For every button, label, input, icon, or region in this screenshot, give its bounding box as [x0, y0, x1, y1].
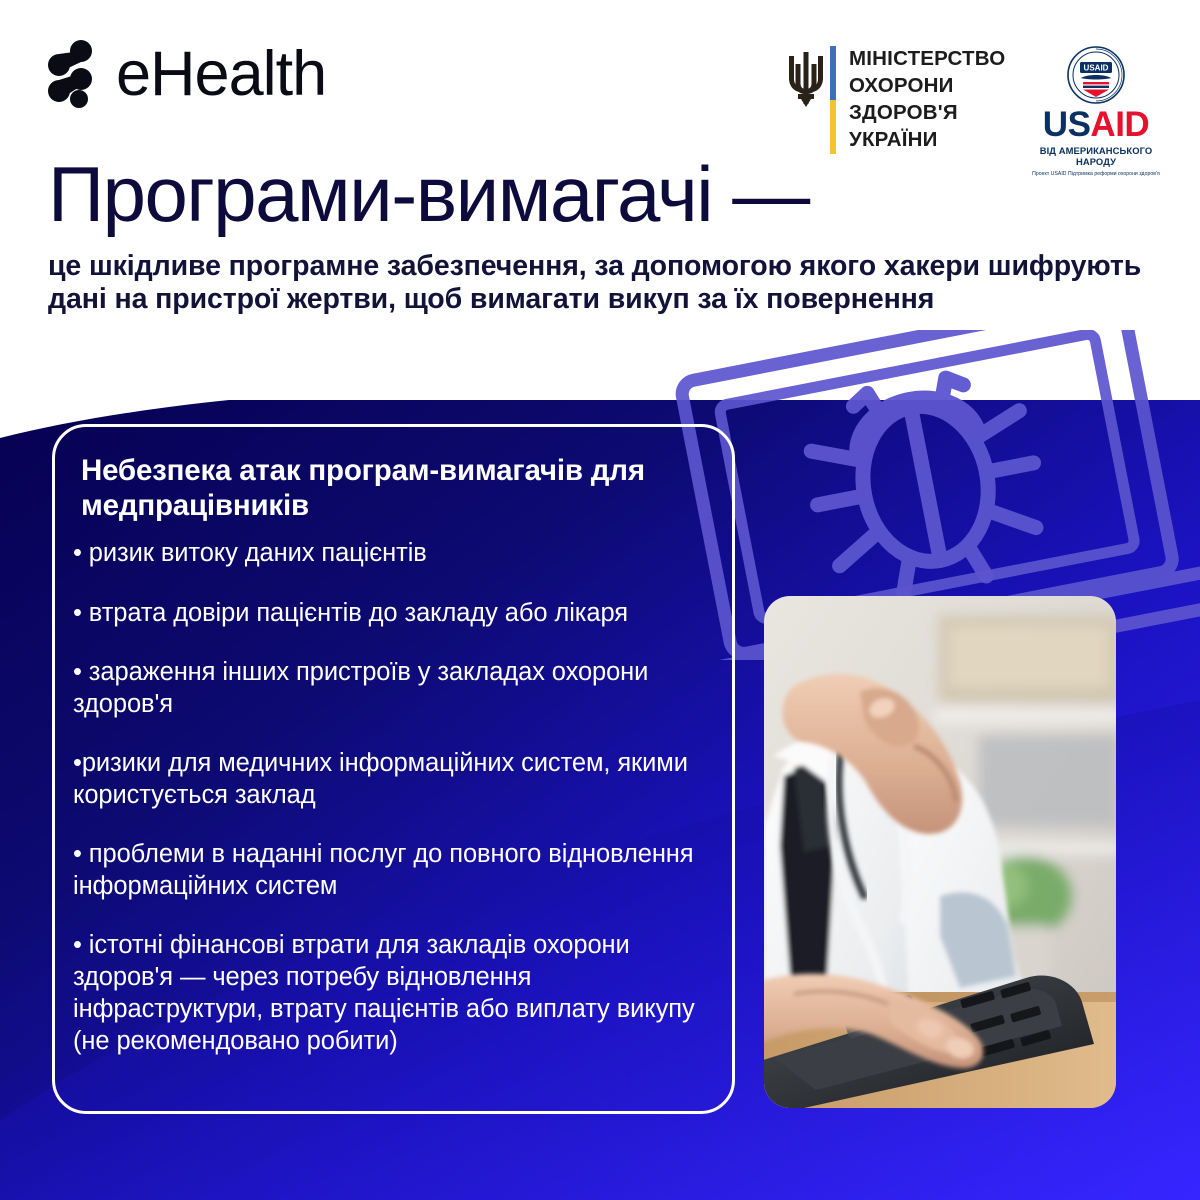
- list-item: • втрата довіри пацієнтів до закладу або…: [73, 597, 718, 629]
- svg-text:USAID: USAID: [1084, 64, 1109, 73]
- poster-root: eHealth МІНІСТЕРСТВ: [0, 0, 1200, 1200]
- usaid-seal-icon: USAID: [1067, 46, 1125, 104]
- list-item: • зараження інших пристроїв у закладах о…: [73, 656, 718, 720]
- ministry-line-2: ОХОРОНИ: [849, 73, 1005, 98]
- ministry-of-health-logo: МІНІСТЕРСТВО ОХОРОНИ ЗДОРОВ'Я УКРАЇНИ: [786, 46, 1005, 154]
- ministry-line-3: ЗДОРОВ'Я: [849, 100, 1005, 125]
- ministry-line-4: УКРАЇНИ: [849, 127, 1005, 152]
- usaid-logo: USAID USAID ВІД АМЕРИКАНСЬКОГО НАРОДУ Пр…: [1021, 46, 1171, 177]
- ministry-line-1: МІНІСТЕРСТВО: [849, 46, 1005, 71]
- usaid-word-us: US: [1043, 105, 1091, 144]
- ukraine-trident-icon: [786, 52, 826, 107]
- list-item: • проблеми в наданні послуг до повного в…: [73, 838, 718, 902]
- usaid-wordmark: USAID: [1021, 107, 1171, 142]
- ehealth-molecule-icon: [46, 40, 94, 108]
- info-card: Небезпека атак програм-вимагачів для мед…: [52, 424, 735, 1114]
- ehealth-logo: eHealth: [46, 40, 326, 108]
- ehealth-wordmark: eHealth: [116, 43, 326, 106]
- usaid-tagline: ВІД АМЕРИКАНСЬКОГО НАРОДУ: [1021, 145, 1171, 167]
- ministry-flag-bar: [830, 46, 836, 154]
- doctor-typing-laptop-photo: [764, 596, 1116, 1108]
- page-title: Програми-вимагачі —: [48, 152, 809, 236]
- risk-list: • ризик витоку даних пацієнтів • втрата …: [73, 537, 718, 1084]
- list-item: •ризики для медичних інформаційних систе…: [73, 747, 718, 811]
- list-item: • істотні фінансові втрати для закладів …: [73, 929, 718, 1057]
- page-subtitle: це шкідливе програмне забезпечення, за д…: [48, 250, 1163, 316]
- ministry-wordmark: МІНІСТЕРСТВО ОХОРОНИ ЗДОРОВ'Я УКРАЇНИ: [849, 46, 1005, 152]
- usaid-word-aid: AID: [1090, 105, 1149, 144]
- logo-row: eHealth МІНІСТЕРСТВ: [0, 18, 1200, 148]
- list-item: • ризик витоку даних пацієнтів: [73, 537, 718, 569]
- card-title: Небезпека атак програм-вимагачів для мед…: [81, 453, 681, 523]
- usaid-fine-print: Проект USAID Підтримка реформи охорони з…: [1021, 171, 1171, 177]
